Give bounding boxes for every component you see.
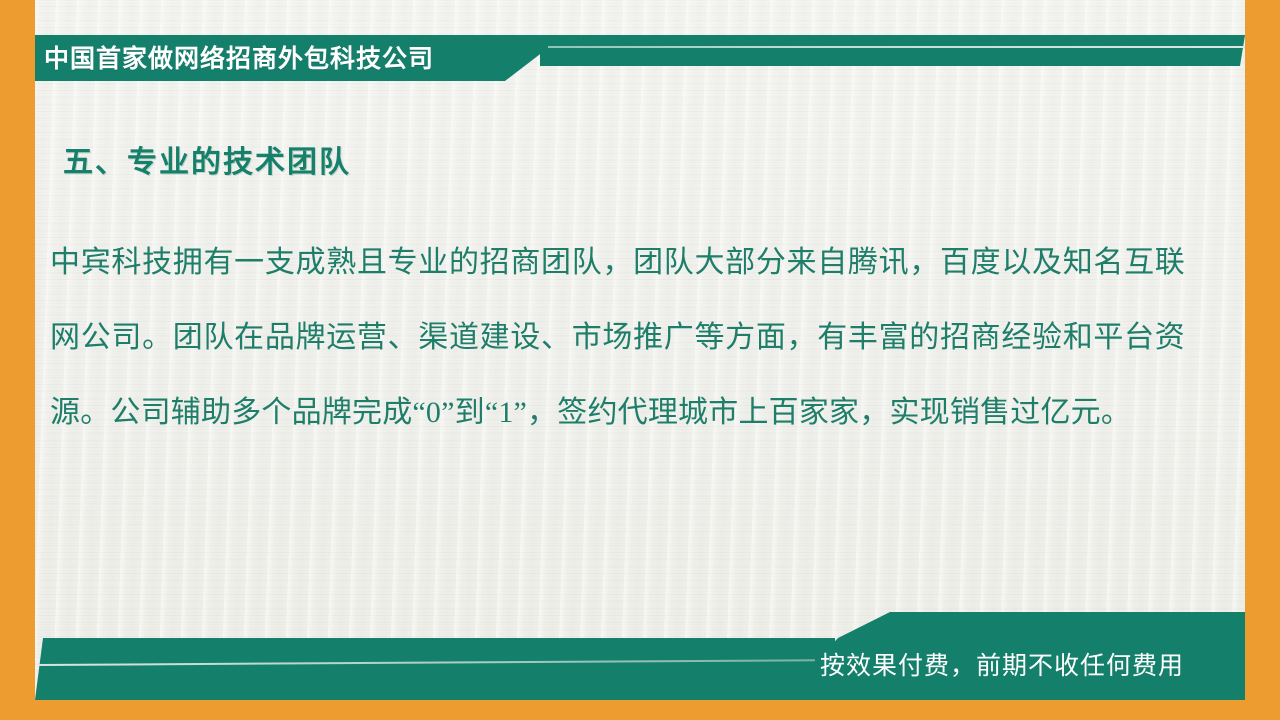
- header-banner: 中国首家做网络招商外包科技公司: [35, 35, 1245, 81]
- header-title-block: 中国首家做网络招商外包科技公司: [35, 35, 548, 81]
- slide-root: 中国首家做网络招商外包科技公司 五、专业的技术团队 中宾科技拥有一支成熟且专业的…: [0, 0, 1280, 720]
- section-heading: 五、专业的技术团队: [63, 137, 351, 181]
- footer-hairline-divider: [37, 659, 815, 666]
- body-paragraph: 中宾科技拥有一支成熟且专业的招商团队，团队大部分来自腾讯，百度以及知名互联网公司…: [50, 225, 1185, 450]
- header-hairline-divider: [545, 46, 1245, 48]
- header-title: 中国首家做网络招商外包科技公司: [44, 39, 434, 75]
- footer-slogan: 按效果付费，前期不收任何费用: [820, 646, 1184, 682]
- footer-left-bar: [35, 638, 835, 700]
- body-copy: 中宾科技拥有一支成熟且专业的招商团队，团队大部分来自腾讯，百度以及知名互联网公司…: [50, 225, 1185, 450]
- header-accent-strip: [540, 35, 1245, 66]
